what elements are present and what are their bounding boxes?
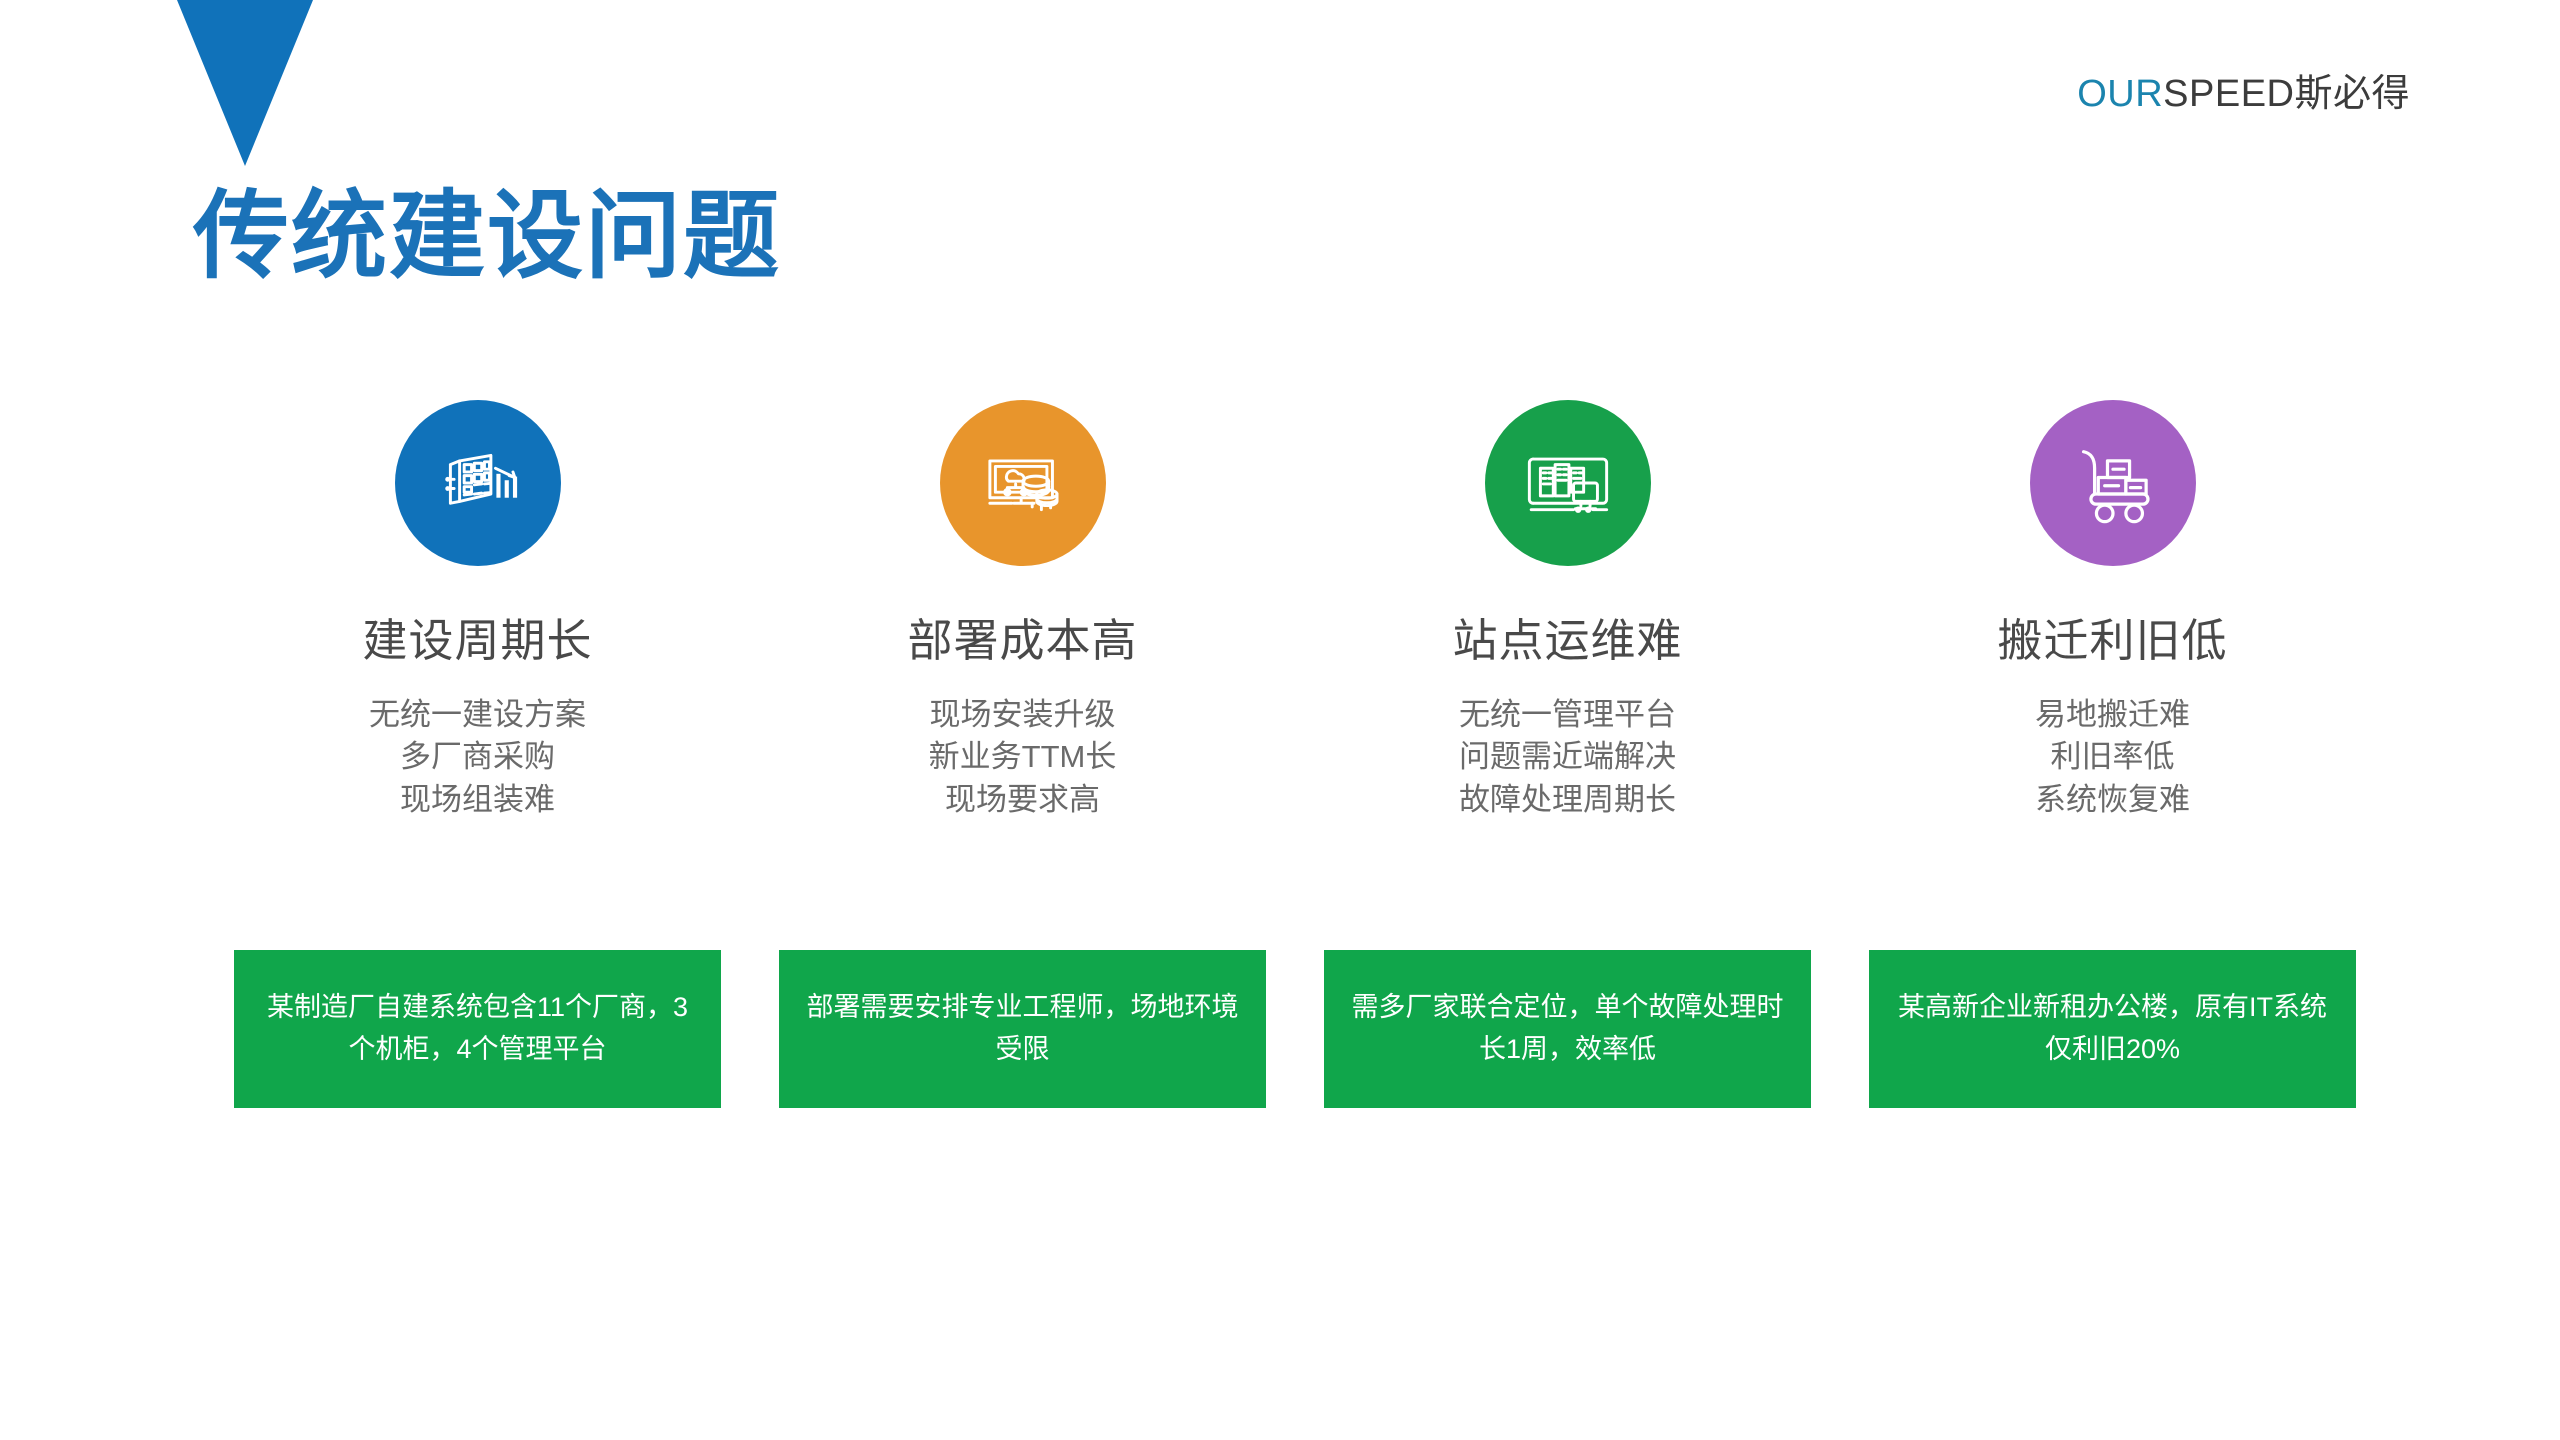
column-heading: 搬迁利旧低 <box>1997 616 2227 666</box>
problem-column-site-ops: 站点运维难 无统一管理平台 问题需近端解决 故障处理周期长 <box>1295 400 1840 822</box>
monitor-cloud-coins-icon <box>940 400 1106 566</box>
brand-logo-highlight: OUR <box>2077 73 2163 115</box>
callout-box: 某制造厂自建系统包含11个厂商，3个机柜，4个管理平台 <box>234 950 721 1108</box>
callout-slot: 某高新企业新租办公楼，原有IT系统仅利旧20% <box>1840 950 2385 1108</box>
column-bullets: 现场安装升级 新业务TTM长 现场要求高 <box>929 694 1117 822</box>
bullet-item: 故障处理周期长 <box>1459 779 1676 822</box>
callout-slot: 某制造厂自建系统包含11个厂商，3个机柜，4个管理平台 <box>205 950 750 1108</box>
callout-slot: 需多厂家联合定位，单个故障处理时长1周，效率低 <box>1295 950 1840 1108</box>
bullet-item: 系统恢复难 <box>2035 779 2190 822</box>
callout-box: 部署需要安排专业工程师，场地环境受限 <box>779 950 1266 1108</box>
column-heading: 站点运维难 <box>1452 616 1682 666</box>
callout-box: 某高新企业新租办公楼，原有IT系统仅利旧20% <box>1869 950 2356 1108</box>
callout-text: 某高新企业新租办公楼，原有IT系统仅利旧20% <box>1895 987 2330 1071</box>
column-bullets: 无统一管理平台 问题需近端解决 故障处理周期长 <box>1459 694 1676 822</box>
column-bullets: 易地搬迁难 利旧率低 系统恢复难 <box>2035 694 2190 822</box>
problem-columns: 建设周期长 无统一建设方案 多厂商采购 现场组装难 <box>205 400 2385 822</box>
callout-text: 需多厂家联合定位，单个故障处理时长1周，效率低 <box>1350 987 1785 1071</box>
column-heading: 部署成本高 <box>907 616 1137 666</box>
bullet-item: 多厂商采购 <box>369 736 586 779</box>
callout-text: 部署需要安排专业工程师，场地环境受限 <box>805 987 1240 1071</box>
bullet-item: 现场组装难 <box>369 779 586 822</box>
column-heading: 建设周期长 <box>362 616 592 666</box>
problem-column-relocation: 搬迁利旧低 易地搬迁难 利旧率低 系统恢复难 <box>1840 400 2385 822</box>
brand-logo-rest: SPEED斯必得 <box>2163 73 2410 115</box>
callout-slot: 部署需要安排专业工程师，场地环境受限 <box>750 950 1295 1108</box>
bullet-item: 问题需近端解决 <box>1459 736 1676 779</box>
callout-box: 需多厂家联合定位，单个故障处理时长1周，效率低 <box>1324 950 1811 1108</box>
callout-text: 某制造厂自建系统包含11个厂商，3个机柜，4个管理平台 <box>260 987 695 1071</box>
problem-column-deploy-cost: 部署成本高 现场安装升级 新业务TTM长 现场要求高 <box>750 400 1295 822</box>
hand-cart-boxes-icon <box>2030 400 2196 566</box>
servers-monitor-frame-icon <box>1485 400 1651 566</box>
bullet-item: 无统一管理平台 <box>1459 694 1676 737</box>
column-bullets: 无统一建设方案 多厂商采购 现场组装难 <box>369 694 586 822</box>
bullet-item: 无统一建设方案 <box>369 694 586 737</box>
server-rack-declining-chart-icon <box>395 400 561 566</box>
bullet-item: 现场安装升级 <box>929 694 1117 737</box>
bullet-item: 利旧率低 <box>2035 736 2190 779</box>
callout-row: 某制造厂自建系统包含11个厂商，3个机柜，4个管理平台 部署需要安排专业工程师，… <box>205 950 2385 1108</box>
brand-logo: OURSPEED斯必得 <box>2077 62 2410 117</box>
bullet-item: 现场要求高 <box>929 779 1117 822</box>
page-title: 传统建设问题 <box>193 182 781 292</box>
bullet-item: 易地搬迁难 <box>2035 694 2190 737</box>
bullet-item: 新业务TTM长 <box>929 736 1117 779</box>
problem-column-build-cycle: 建设周期长 无统一建设方案 多厂商采购 现场组装难 <box>205 400 750 822</box>
decorative-triangle <box>177 0 313 166</box>
